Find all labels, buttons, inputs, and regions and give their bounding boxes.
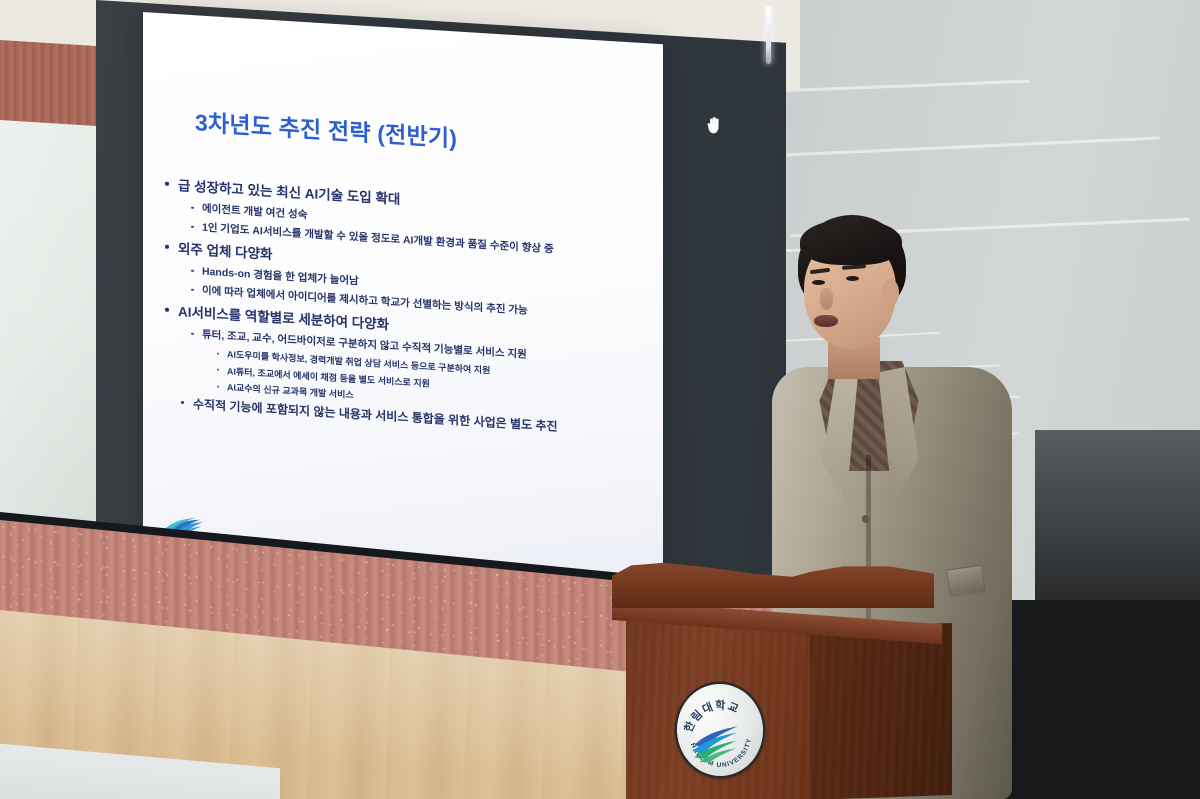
bullet-dot-icon (181, 401, 184, 404)
wood-grain-texture (810, 623, 952, 799)
speaker-eye (812, 280, 825, 285)
hand-cursor-icon (706, 116, 723, 135)
slide-title: 3차년도 추진 전략 (전반기) (195, 103, 595, 162)
speaker-mouth (814, 315, 838, 327)
bullet-dot-icon (191, 269, 194, 272)
slide-bullet-list: 급 성장하고 있는 최신 AI기술 도입 확대 에이전트 개발 여건 성숙 1인… (151, 172, 651, 444)
bullet-dot-icon (191, 225, 194, 228)
podium-top-rail (612, 556, 934, 608)
speaker-eye (846, 276, 859, 281)
bullet-dot-icon (165, 308, 169, 312)
bullet-dot-icon (191, 288, 194, 291)
lectern-podium: 한림대학교 HALLYM UNIVERSITY (612, 556, 942, 799)
wall-light-strip-icon (766, 6, 771, 64)
bullet-dot-icon (217, 369, 219, 371)
emblem-korean-text: 한림대학교 (679, 696, 743, 735)
podium-side-panel (810, 623, 952, 799)
photo-scene: 3차년도 추진 전략 (전반기) 급 성장하고 있는 최신 AI기술 도입 확대… (0, 0, 1200, 799)
bullet-dot-icon (165, 245, 169, 249)
projection-screen: 3차년도 추진 전략 (전반기) 급 성장하고 있는 최신 AI기술 도입 확대… (143, 12, 663, 592)
jacket-button (862, 515, 869, 522)
bullet-text: 에이전트 개발 여건 성숙 (202, 203, 307, 222)
bullet-dot-icon (191, 206, 194, 209)
presentation-slide: 3차년도 추진 전략 (전반기) 급 성장하고 있는 최신 AI기술 도입 확대… (143, 12, 663, 592)
bullet-dot-icon (217, 385, 219, 387)
bullet-dot-icon (191, 332, 194, 335)
bullet-dot-icon (165, 182, 169, 186)
speaker-hair-fringe (800, 219, 902, 265)
jacket-pocket-flap (946, 565, 986, 598)
svg-text:한림대학교: 한림대학교 (679, 696, 743, 735)
speaker-nose (820, 288, 833, 310)
speaker-ear (882, 279, 899, 306)
hallym-university-emblem: 한림대학교 HALLYM UNIVERSITY (674, 681, 766, 779)
bullet-dot-icon (217, 352, 219, 354)
bullet-text: 외주 업체 다양화 (178, 241, 272, 262)
